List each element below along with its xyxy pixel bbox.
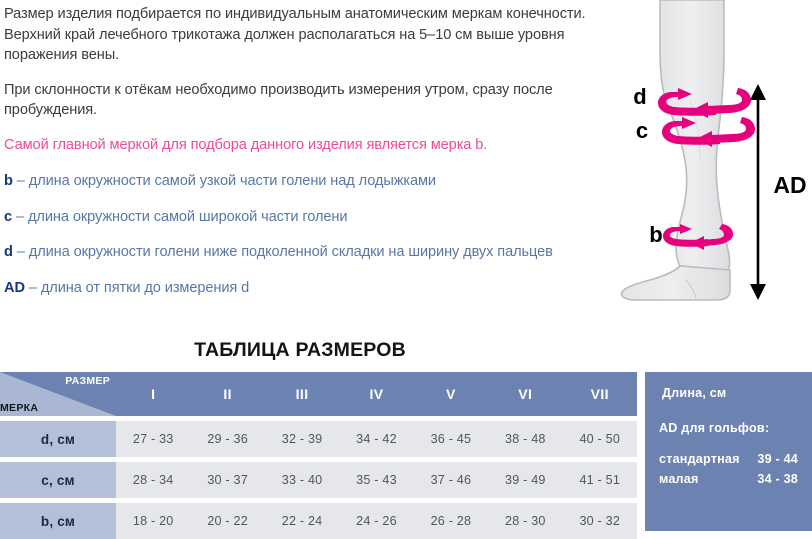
intro-paragraph-1: Размер изделия подбирается по индивидуал… — [4, 4, 600, 66]
instructions-text-column: Размер изделия подбирается по индивидуал… — [4, 4, 600, 313]
table-row: d, см 27 - 33 29 - 36 32 - 39 34 - 42 36… — [0, 421, 637, 457]
table-row: с, см 28 - 34 30 - 37 33 - 40 35 - 43 37… — [0, 462, 637, 498]
column-header-6: VI — [488, 372, 562, 416]
row-label-c: с, см — [0, 462, 116, 498]
leg-silhouette — [622, 0, 730, 300]
measurement-key-d: d — [4, 244, 13, 260]
cell-d-3: 32 - 39 — [265, 421, 339, 457]
cell-b-4: 24 - 26 — [339, 503, 413, 539]
column-header-1: I — [116, 372, 190, 416]
measurement-definition-d: d – длина окружности голени ниже подколе… — [4, 242, 600, 263]
cell-d-4: 34 - 42 — [339, 421, 413, 457]
length-panel-title: Длина, см — [662, 386, 802, 400]
row-label-d: d, см — [0, 421, 116, 457]
corner-size-label: РАЗМЕР — [65, 375, 110, 387]
diagram-label-c: c — [636, 118, 648, 143]
corner-measure-label: МЕРКА — [0, 402, 38, 414]
cell-d-7: 40 - 50 — [563, 421, 637, 457]
cell-b-7: 30 - 32 — [563, 503, 637, 539]
measurement-key-b: b — [4, 173, 13, 189]
measurement-text-c: длина окружности самой широкой части гол… — [28, 209, 347, 225]
column-header-4: IV — [339, 372, 413, 416]
column-header-2: II — [190, 372, 264, 416]
size-table-wrapper: РАЗМЕР МЕРКА I II III IV V VI VII d, см … — [0, 372, 637, 539]
page-title: ТАБЛИЦА РАЗМЕРОВ — [0, 339, 600, 362]
measurement-definition-ad: AD – длина от пятки до измерения d — [4, 278, 600, 299]
corner-cell: РАЗМЕР МЕРКА — [0, 372, 116, 416]
cell-b-6: 28 - 30 — [488, 503, 562, 539]
cell-c-7: 41 - 51 — [563, 462, 637, 498]
diagram-label-d: d — [633, 84, 646, 109]
cell-c-5: 37 - 46 — [414, 462, 488, 498]
size-table: РАЗМЕР МЕРКА I II III IV V VI VII d, см … — [0, 372, 637, 539]
diagram-label-b: b — [649, 222, 662, 247]
length-name-small: малая — [659, 472, 699, 486]
column-header-5: V — [414, 372, 488, 416]
cell-d-2: 29 - 36 — [190, 421, 264, 457]
measurement-definition-b: b – длина окружности самой узкой части г… — [4, 171, 600, 192]
cell-d-5: 36 - 45 — [414, 421, 488, 457]
leg-measurement-diagram: d c b AD — [600, 0, 812, 310]
cell-d-6: 38 - 48 — [488, 421, 562, 457]
cell-c-1: 28 - 34 — [116, 462, 190, 498]
cell-c-3: 33 - 40 — [265, 462, 339, 498]
length-row-standard: стандартная 39 - 44 — [659, 452, 802, 466]
cell-c-2: 30 - 37 — [190, 462, 264, 498]
table-header-row: РАЗМЕР МЕРКА I II III IV V VI VII — [0, 372, 637, 416]
diagram-label-ad: AD — [773, 172, 806, 198]
measurement-definition-c: c – длина окружности самой широкой части… — [4, 207, 600, 228]
cell-c-4: 35 - 43 — [339, 462, 413, 498]
instructions-section: Размер изделия подбирается по индивидуал… — [0, 0, 812, 330]
measurement-dash-ad: – — [29, 280, 37, 296]
cell-c-6: 39 - 49 — [488, 462, 562, 498]
length-info-panel: Длина, см AD для гольфов: стандартная 39… — [645, 372, 812, 531]
length-value-small: 34 - 38 — [757, 472, 802, 486]
measurement-key-ad: AD — [4, 280, 25, 296]
intro-paragraph-2: При склонности к отёкам необходимо произ… — [4, 80, 600, 121]
cell-d-1: 27 - 33 — [116, 421, 190, 457]
cell-b-2: 20 - 22 — [190, 503, 264, 539]
measurement-text-ad: длина от пятки до измерения d — [41, 280, 249, 296]
length-row-small: малая 34 - 38 — [659, 472, 802, 486]
cell-b-3: 22 - 24 — [265, 503, 339, 539]
measurement-dash-c: – — [16, 209, 24, 225]
cell-b-1: 18 - 20 — [116, 503, 190, 539]
measurement-dash-d: – — [17, 244, 25, 260]
measurement-text-b: длина окружности самой узкой части голен… — [29, 173, 436, 189]
length-name-standard: стандартная — [659, 452, 740, 466]
column-header-7: VII — [563, 372, 637, 416]
measurement-text-d: длина окружности голени ниже подколенной… — [29, 244, 553, 260]
length-value-standard: 39 - 44 — [757, 452, 802, 466]
table-row: b, см 18 - 20 20 - 22 22 - 24 24 - 26 26… — [0, 503, 637, 539]
measurement-key-c: c — [4, 209, 12, 225]
ad-length-arrow-icon — [750, 84, 766, 300]
row-label-b: b, см — [0, 503, 116, 539]
column-header-3: III — [265, 372, 339, 416]
highlight-note: Самой главной меркой для подбора данного… — [4, 135, 600, 156]
measurement-dash-b: – — [17, 173, 25, 189]
length-panel-subtitle: AD для гольфов: — [659, 421, 802, 435]
cell-b-5: 26 - 28 — [414, 503, 488, 539]
